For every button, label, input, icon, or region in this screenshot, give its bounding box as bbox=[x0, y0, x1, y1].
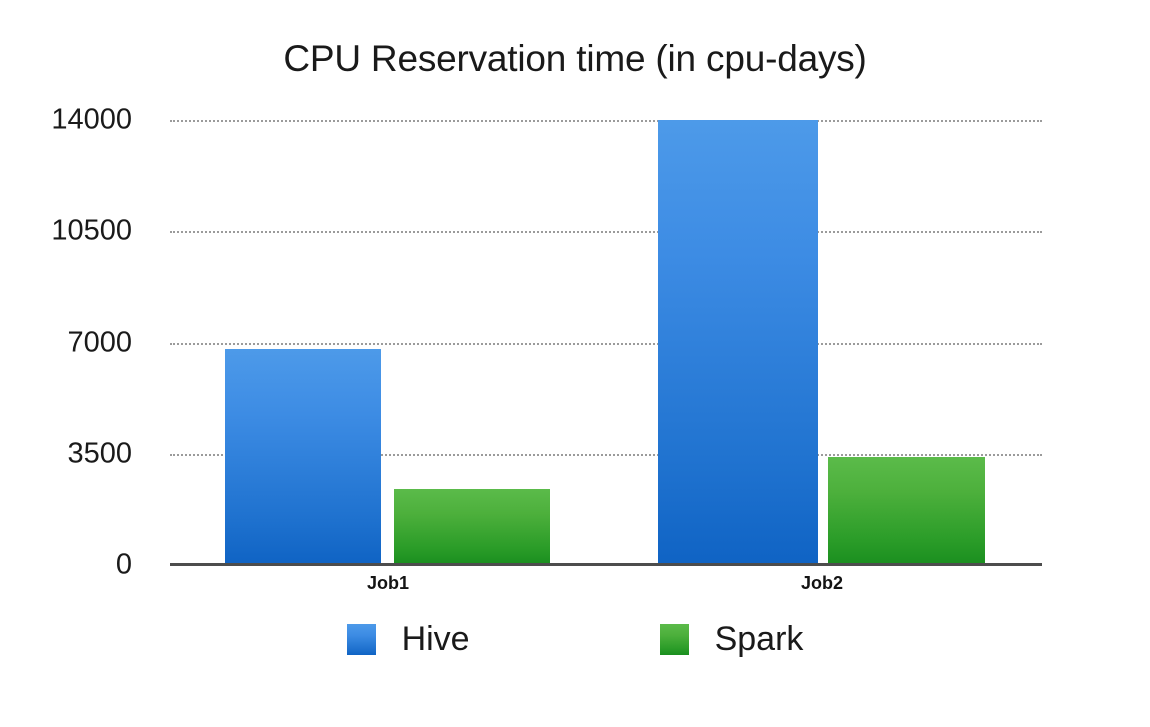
y-tick-label-14000: 14000 bbox=[0, 104, 132, 137]
chart-legend: Hive Spark bbox=[0, 620, 1150, 659]
x-tick-label-job2: Job2 bbox=[752, 573, 892, 594]
bar-job1-spark[interactable] bbox=[394, 489, 550, 565]
y-tick-label-3500: 3500 bbox=[0, 438, 132, 471]
y-tick-label-0: 0 bbox=[0, 549, 132, 582]
chart-title: CPU Reservation time (in cpu-days) bbox=[0, 38, 1150, 80]
x-tick-label-job1: Job1 bbox=[318, 573, 458, 594]
bar-job2-hive[interactable] bbox=[658, 120, 818, 565]
bar-chart: CPU Reservation time (in cpu-days) 14000… bbox=[0, 0, 1150, 727]
bar-job2-spark[interactable] bbox=[828, 457, 985, 565]
legend-item-spark[interactable]: Spark bbox=[660, 620, 804, 659]
gridline-7000 bbox=[170, 343, 1042, 345]
gridline-14000 bbox=[170, 120, 1042, 122]
bar-job1-hive[interactable] bbox=[225, 349, 381, 565]
x-axis-line bbox=[170, 563, 1042, 566]
plot-area bbox=[170, 118, 1042, 565]
legend-label-spark: Spark bbox=[715, 620, 804, 659]
legend-label-hive: Hive bbox=[402, 620, 470, 659]
legend-swatch-spark-icon bbox=[660, 624, 689, 655]
legend-item-hive[interactable]: Hive bbox=[347, 620, 470, 659]
y-tick-label-10500: 10500 bbox=[0, 215, 132, 248]
gridline-10500 bbox=[170, 231, 1042, 233]
legend-swatch-hive-icon bbox=[347, 624, 376, 655]
y-tick-label-7000: 7000 bbox=[0, 327, 132, 360]
